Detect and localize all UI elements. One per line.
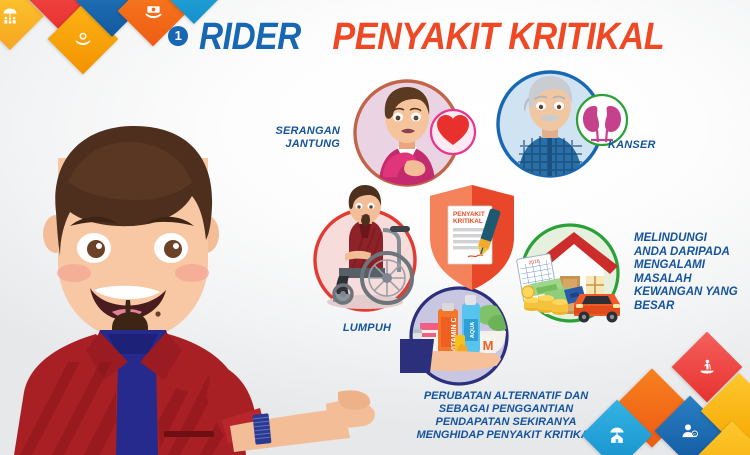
text-line-2: SEBAGAI PENGGANTIAN — [386, 403, 626, 416]
svg-text:M: M — [483, 338, 494, 353]
label-serangan-jantung: SERANGAN JANTUNG — [268, 125, 340, 151]
umbrella-house-icon — [592, 410, 642, 455]
shield-doc-title-line1: PENYAKIT — [453, 211, 485, 218]
text-line-5: KEWANGAN YANG — [634, 286, 748, 300]
title-part-penyakit-kritikal: PENYAKIT KRITIKAL — [332, 16, 664, 59]
label-line-1: SERANGAN — [268, 125, 340, 138]
label-line-1: KANSER — [608, 139, 688, 152]
label-line-1: LUMPUH — [325, 322, 409, 335]
page-title: 1RIDERPENYAKIT KRITIKAL — [168, 16, 682, 59]
umbrella-family-icon — [0, 0, 34, 40]
person-boat-icon — [682, 342, 732, 392]
title-part-rider: RIDER — [199, 16, 301, 59]
text-line-3: MENGALAMI — [634, 259, 748, 273]
text-line-1: MELINDUNGI — [634, 232, 748, 246]
infographic-canvas: 1RIDERPENYAKIT KRITIKAL — [0, 0, 750, 455]
label-lumpuh: LUMPUH — [325, 322, 409, 335]
text-line-4: MASALAH — [634, 273, 748, 287]
svg-text:AQUA: AQUA — [470, 322, 476, 338]
svg-text:C: C — [693, 433, 696, 437]
text-line-6: BESAR — [634, 300, 748, 314]
text-line-1: PERUBATAN ALTERNATIF DAN — [386, 390, 626, 403]
label-line-2: JANTUNG — [268, 138, 340, 151]
callout-heart-attack — [349, 73, 471, 200]
callout-financial-protection: 2016 — [508, 218, 634, 335]
financial-protection-text: MELINDUNGI ANDA DARIPADA MENGALAMI MASAL… — [634, 232, 748, 313]
critical-illness-shield: PENYAKIT KRITIKAL — [424, 182, 520, 299]
label-kanser: KANSER — [608, 139, 688, 152]
shield-doc-title-line2: KRITIKAL — [453, 218, 483, 225]
title-number-badge: 1 — [168, 26, 188, 46]
text-line-2: ANDA DARIPADA — [634, 246, 748, 260]
callout-cancer — [492, 62, 642, 192]
callout-alternative-treatment: VITAMIN C AQUA M — [400, 285, 518, 402]
